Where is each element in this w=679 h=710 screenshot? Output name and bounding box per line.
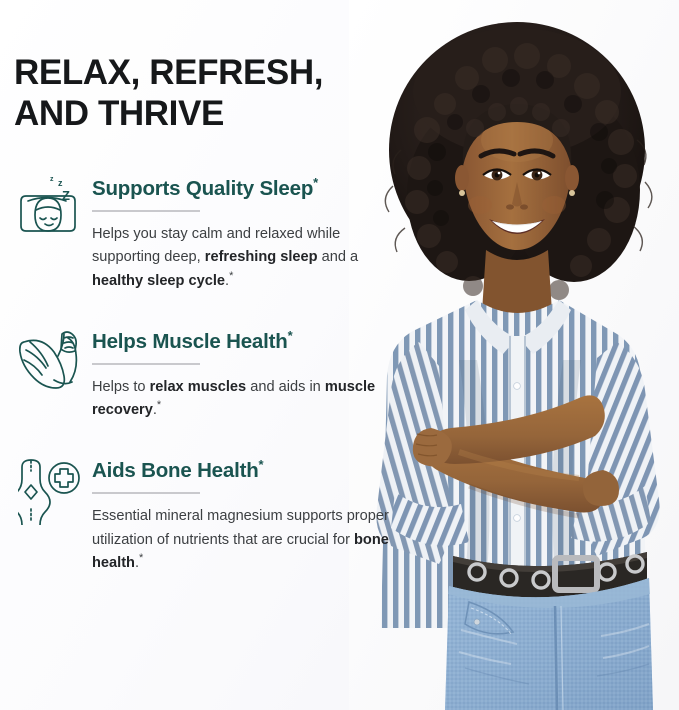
z-medium: z [58, 178, 63, 188]
benefit-title-text: Helps Muscle Health [92, 330, 288, 353]
denim-jeans [445, 578, 653, 710]
asterisk: * [288, 328, 293, 343]
benefit-description: Essential mineral magnesium supports pro… [92, 505, 392, 576]
benefit-body: Supports Quality Sleep* Helps you stay c… [86, 173, 400, 294]
flexed-bicep-arm-icon [14, 326, 86, 398]
divider [92, 492, 200, 494]
benefit-title: Helps Muscle Health* [92, 330, 400, 354]
sleeping-face-pillow-icon: Z z z [14, 173, 86, 245]
dagger: * [229, 270, 233, 282]
asterisk: * [259, 457, 264, 472]
text-part-bold: refreshing sleep [205, 249, 318, 265]
benefit-title-text: Supports Quality Sleep [92, 177, 313, 200]
benefit-description: Helps you stay calm and relaxed while su… [92, 223, 392, 294]
benefit-title: Aids Bone Health* [92, 459, 400, 483]
headline-line-1: RELAX, REFRESH, [14, 53, 323, 92]
bone-joint-medical-cross-icon [14, 455, 86, 527]
benefit-item-sleep: Z z z Supports Quality Sleep* Helps you … [14, 173, 400, 294]
z-small: z [50, 176, 54, 183]
text-part: and aids in [246, 379, 325, 395]
benefit-description: Helps to relax muscles and aids in muscl… [92, 376, 392, 423]
content-column: RELAX, REFRESH, AND THRIVE [0, 0, 400, 710]
benefit-title: Supports Quality Sleep* [92, 177, 400, 201]
divider [92, 210, 200, 212]
shirt-button [514, 383, 521, 390]
page-title: RELAX, REFRESH, AND THRIVE [14, 52, 374, 135]
z-large: Z [62, 188, 70, 203]
dagger: * [157, 399, 161, 411]
dagger: * [139, 552, 143, 564]
text-part: Helps to [92, 379, 150, 395]
benefit-body: Helps Muscle Health* Helps to relax musc… [86, 326, 400, 423]
benefit-item-muscle: Helps Muscle Health* Helps to relax musc… [14, 326, 400, 423]
divider [92, 363, 200, 365]
headline-line-2: AND THRIVE [14, 94, 224, 133]
earring-right [569, 190, 575, 196]
benefits-list: Z z z Supports Quality Sleep* Helps you … [14, 173, 400, 576]
benefit-title-text: Aids Bone Health [92, 459, 259, 482]
benefit-body: Aids Bone Health* Essential mineral magn… [86, 455, 400, 576]
product-benefits-banner: RELAX, REFRESH, AND THRIVE [0, 0, 679, 710]
earring-left [459, 190, 465, 196]
asterisk: * [313, 175, 318, 190]
benefit-item-bone: Aids Bone Health* Essential mineral magn… [14, 455, 400, 576]
text-part: and a [318, 249, 359, 265]
jean-rivet [474, 619, 480, 625]
shirt-button [514, 515, 521, 522]
text-part: Essential mineral magnesium supports pro… [92, 508, 389, 548]
text-part-bold: relax muscles [150, 379, 247, 395]
text-part-bold: healthy sleep cycle [92, 273, 225, 289]
